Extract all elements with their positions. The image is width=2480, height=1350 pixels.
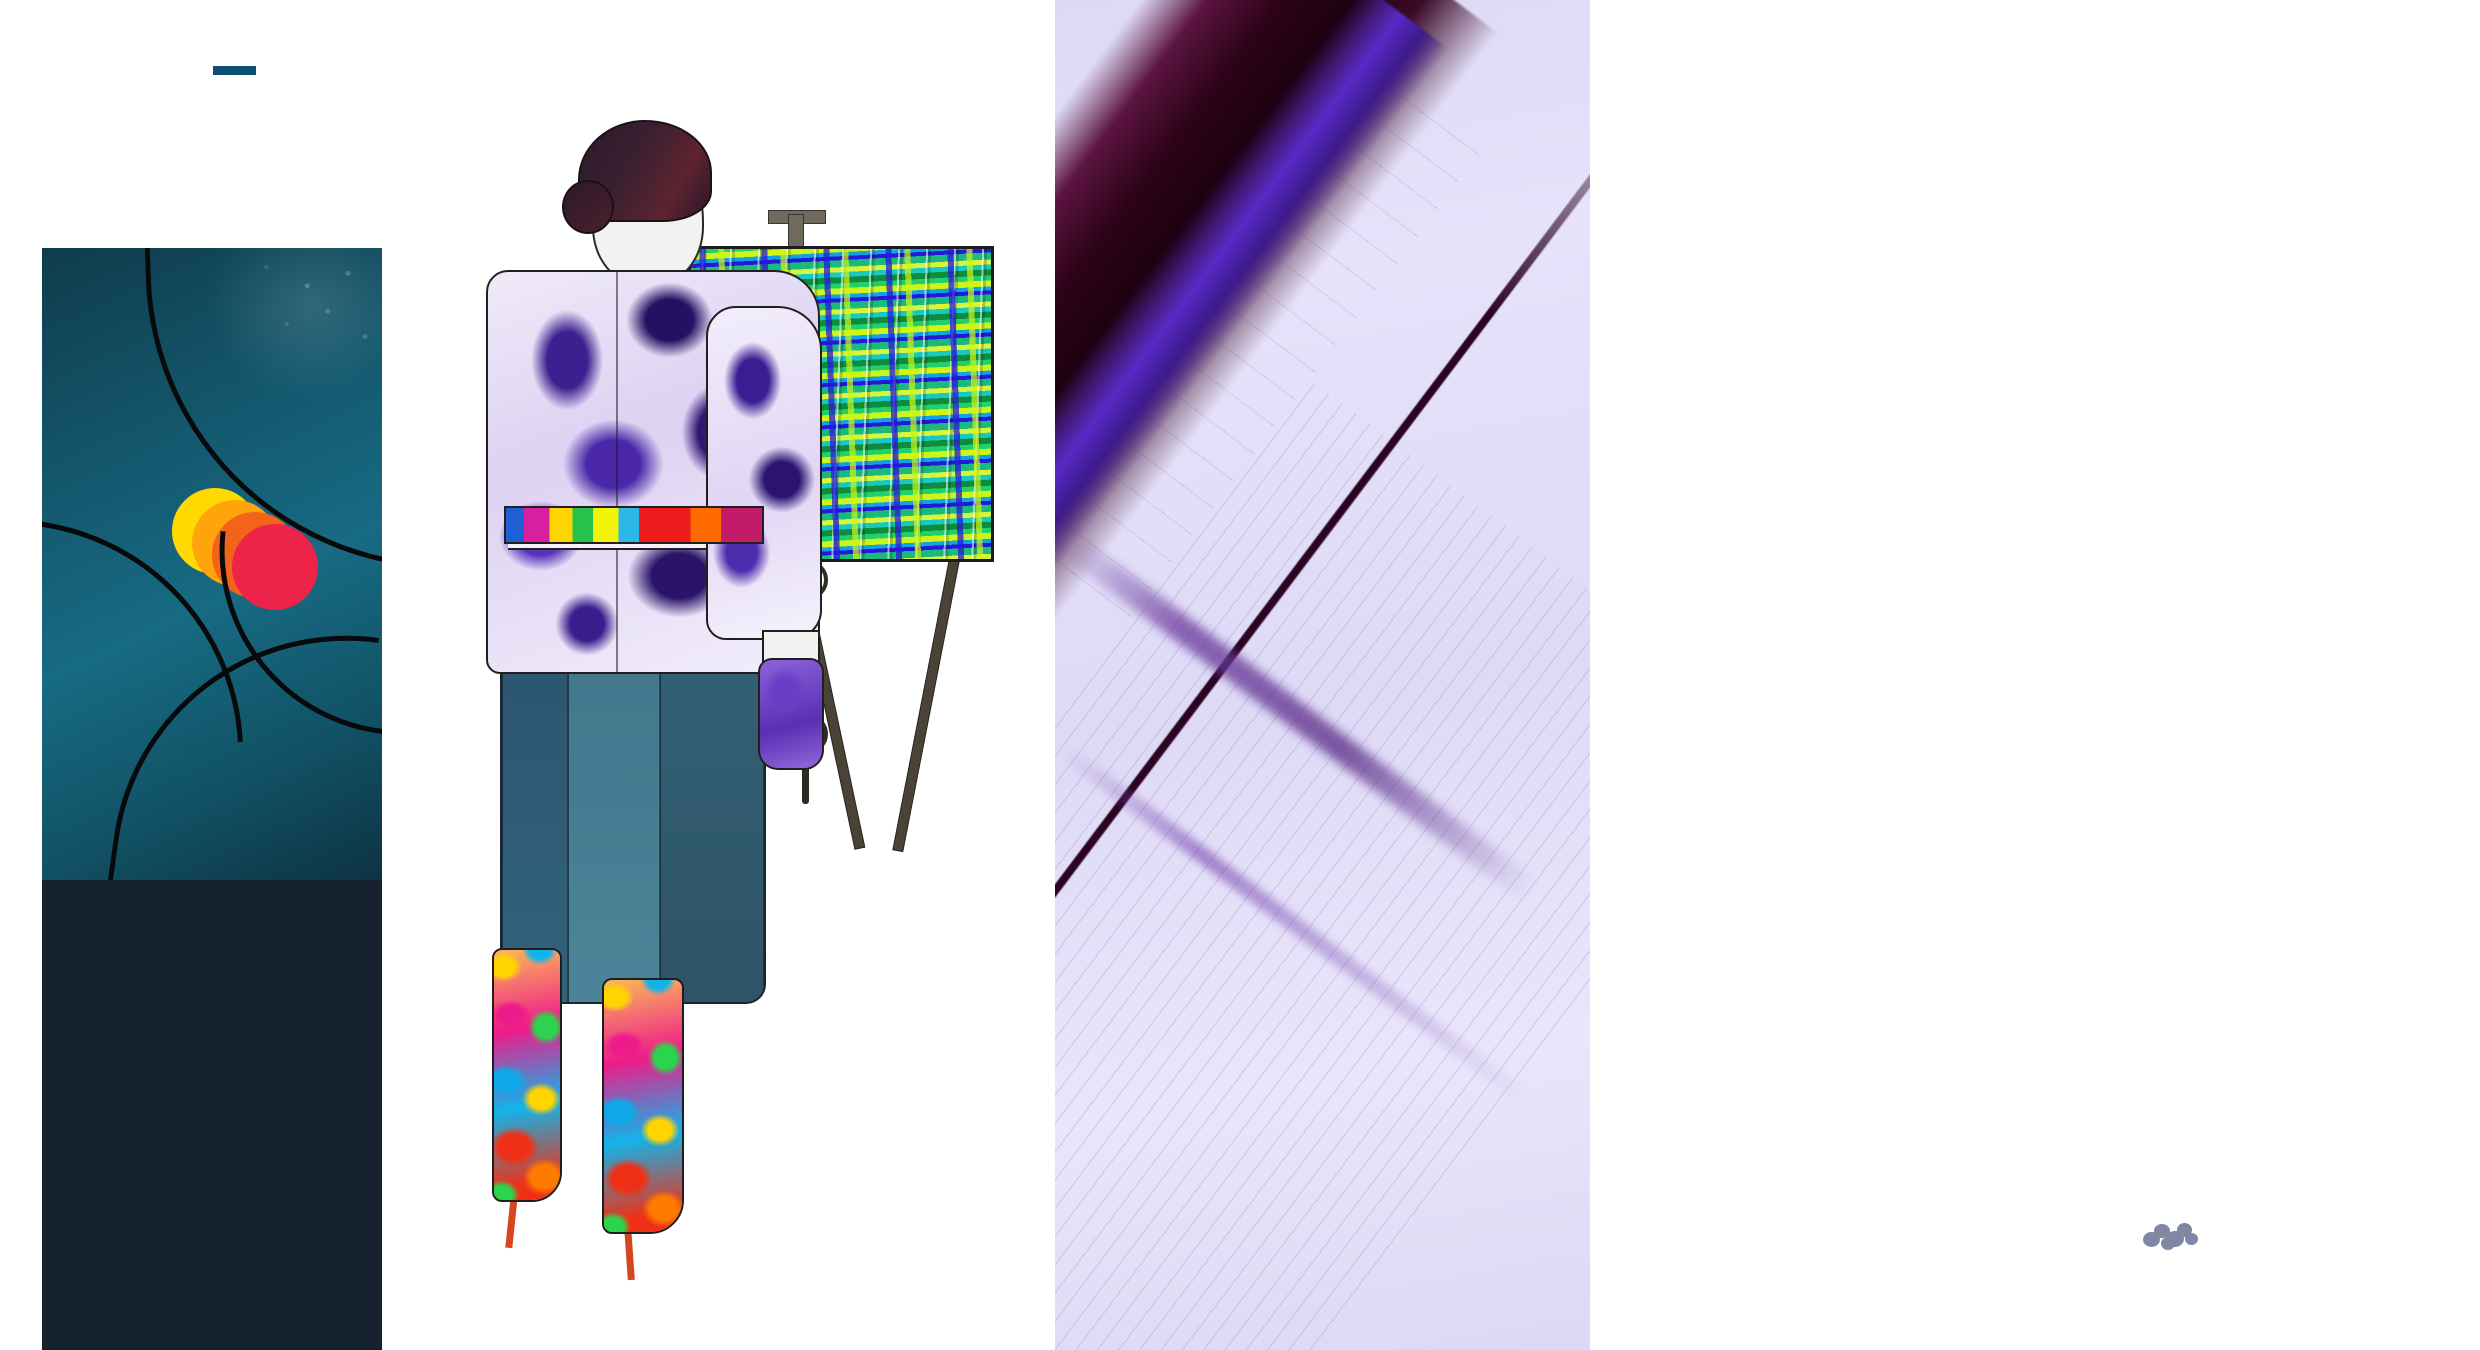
- jacket-center-seam: [616, 272, 618, 672]
- flower-icon: [2141, 1222, 2197, 1252]
- moodboard-page: [0, 0, 2480, 1350]
- figure-hair-bun: [562, 180, 614, 234]
- painted-wood-blocks-image: [42, 880, 382, 1350]
- left-image-column: [42, 248, 382, 1350]
- tie-dye-boot-left: [492, 948, 562, 1202]
- brand-logo: [80, 40, 500, 45]
- boot-heel-left: [505, 1196, 517, 1248]
- tie-dye-sleeve: [706, 306, 822, 640]
- footer: [2015, 1243, 2193, 1248]
- tie-dye-boot-right: [602, 978, 684, 1234]
- easel-leg-right: [892, 544, 962, 852]
- abstract-teal-painting-image: [42, 248, 382, 880]
- fashion-illustration: [470, 110, 1030, 1290]
- purple-tie-dye-glove: [758, 658, 824, 770]
- purple-dye-macro-image: [1055, 0, 1590, 1350]
- rainbow-print-belt: [504, 506, 764, 544]
- logo-strike-decoration: [213, 66, 256, 75]
- boot-heel-right: [624, 1228, 635, 1280]
